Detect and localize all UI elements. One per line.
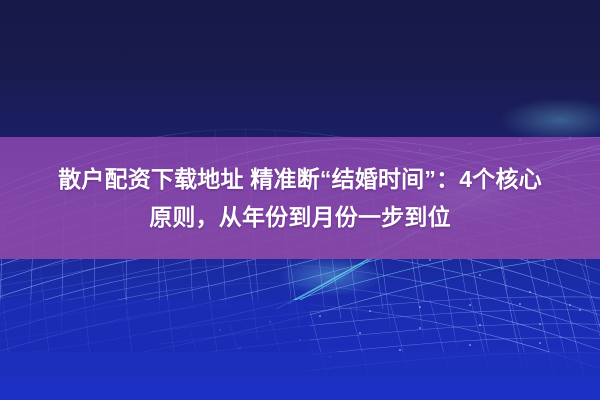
- banner-image: 散户配资下载地址 精准断“结婚时间”：4个核心 原则，从年份到月份一步到位: [0, 0, 600, 400]
- headline-line-2: 原则，从年份到月份一步到位: [8, 198, 592, 236]
- headline-line-1: 散户配资下载地址 精准断“结婚时间”：4个核心: [8, 160, 592, 198]
- headline-text: 散户配资下载地址 精准断“结婚时间”：4个核心 原则，从年份到月份一步到位: [0, 160, 600, 236]
